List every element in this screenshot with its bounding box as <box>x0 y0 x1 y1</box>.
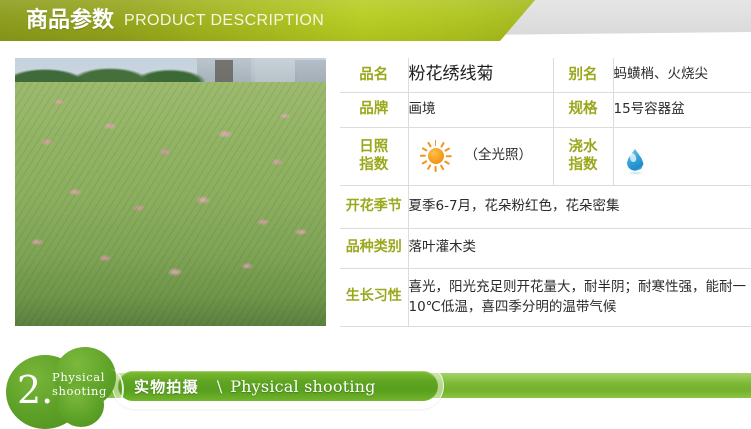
header-banner: 商品参数 PRODUCT DESCRIPTION <box>0 0 751 44</box>
spec-value-specification: 15号容器盆 <box>613 92 751 127</box>
section-banner-title-group: 实物拍摄 \ Physical shooting <box>134 371 376 401</box>
spec-label-sunlight-line2: 指数 <box>340 156 408 174</box>
spec-value-product-name: 粉花绣线菊 <box>408 58 553 92</box>
spec-label-product-name: 品名 <box>340 58 408 92</box>
table-row: 品种类别 落叶灌木类 <box>340 228 751 268</box>
spec-value-growth-habit: 喜光，阳光充足则开花量大，耐半阴；耐寒性强，能耐一10℃低温，喜四季分明的温带气… <box>408 268 751 326</box>
section-title-en: Physical shooting <box>230 377 375 396</box>
spec-value-watering-index <box>613 127 751 185</box>
section-blob-label-line1: Physical <box>52 371 107 385</box>
sun-icon <box>419 139 453 173</box>
table-row: 开花季节 夏季6-7月，花朵粉红色，花朵密集 <box>340 185 751 228</box>
section-blob-label-line2: shooting <box>52 385 107 399</box>
spec-label-alias: 别名 <box>553 58 613 92</box>
spec-value-sunlight-note: （全光照） <box>465 146 533 166</box>
spec-label-bloom-season: 开花季节 <box>340 185 408 228</box>
section-blob-label: Physical shooting <box>52 371 107 398</box>
page-title-en: PRODUCT DESCRIPTION <box>124 13 324 29</box>
spec-label-growth-habit: 生长习性 <box>340 268 408 326</box>
spec-label-watering-line2: 指数 <box>554 156 613 174</box>
table-row: 生长习性 喜光，阳光充足则开花量大，耐半阴；耐寒性强，能耐一10℃低温，喜四季分… <box>340 268 751 326</box>
spec-value-brand: 画境 <box>408 92 553 127</box>
spec-label-sunlight-line1: 日照 <box>340 138 408 156</box>
section-banner-physical-shooting: 实物拍摄 \ Physical shooting 2. Physical sho… <box>0 345 751 429</box>
spec-value-alias: 蚂蟥梢、火烧尖 <box>613 58 751 92</box>
spec-label-watering-index: 浇水 指数 <box>553 127 613 185</box>
spec-value-sunlight-index: （全光照） <box>408 127 553 185</box>
sun-core <box>428 148 444 164</box>
section-number: 2. <box>17 371 53 409</box>
spec-label-specification: 规格 <box>553 92 613 127</box>
product-photo <box>15 58 326 326</box>
page-title-cn: 商品参数 <box>26 10 114 32</box>
product-spec-table: 品名 粉花绣线菊 别名 蚂蟥梢、火烧尖 品牌 画境 规格 15号容器盆 日照 指… <box>340 58 751 327</box>
section-title-cn: 实物拍摄 <box>134 376 199 397</box>
table-row: 品牌 画境 规格 15号容器盆 <box>340 92 751 127</box>
spec-label-brand: 品牌 <box>340 92 408 127</box>
table-row: 品名 粉花绣线菊 别名 蚂蟥梢、火烧尖 <box>340 58 751 92</box>
spec-value-bloom-season: 夏季6-7月，花朵粉红色，花朵密集 <box>408 185 751 228</box>
table-row: 日照 指数 <box>340 127 751 185</box>
spec-label-watering-line1: 浇水 <box>554 138 613 156</box>
spec-label-variety-category: 品种类别 <box>340 228 408 268</box>
spec-label-sunlight-index: 日照 指数 <box>340 127 408 185</box>
photo-leaf-texture <box>15 82 326 326</box>
spec-value-variety-category: 落叶灌木类 <box>408 228 751 268</box>
water-drop-shadow <box>627 171 644 175</box>
header-title-group: 商品参数 PRODUCT DESCRIPTION <box>26 0 324 41</box>
section-title-separator: \ <box>217 377 222 396</box>
